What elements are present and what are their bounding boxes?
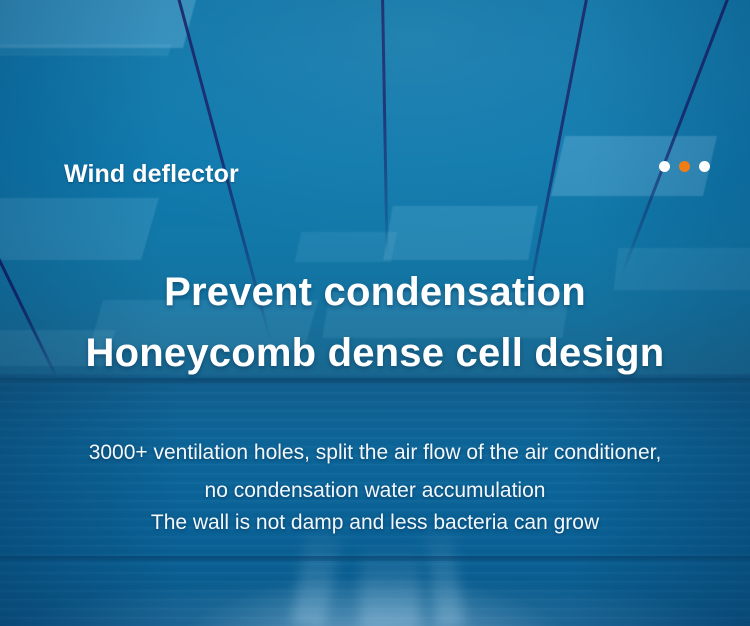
dot-indicator-group	[659, 161, 710, 172]
subtext-line-3: The wall is not damp and less bacteria c…	[0, 511, 750, 535]
dot-3-icon	[699, 161, 710, 172]
product-feature-banner: Wind deflector Prevent condensation Hone…	[0, 0, 750, 626]
banner-content: Wind deflector Prevent condensation Hone…	[0, 0, 750, 626]
dot-2-icon	[679, 161, 690, 172]
dot-1-icon	[659, 161, 670, 172]
headline-line-2: Honeycomb dense cell design	[0, 331, 750, 376]
subtext-line-1: 3000+ ventilation holes, split the air f…	[0, 441, 750, 465]
subtext-line-2: no condensation water accumulation	[0, 479, 750, 503]
headline-line-1: Prevent condensation	[0, 270, 750, 315]
eyebrow-label: Wind deflector	[64, 160, 239, 189]
